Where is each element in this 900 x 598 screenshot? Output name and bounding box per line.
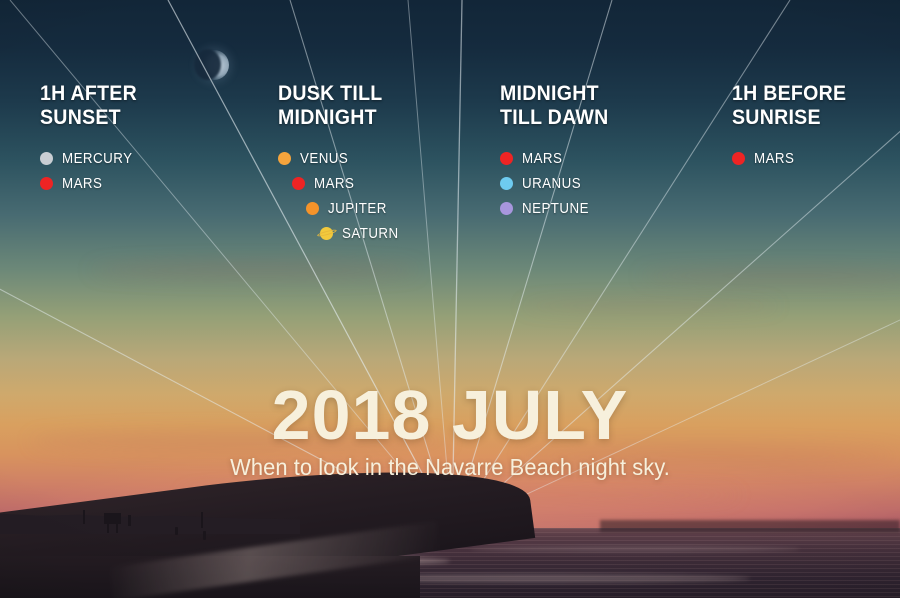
page-subtitle: When to look in the Navarre Beach night …: [23, 454, 878, 481]
planet-label: SATURN: [342, 226, 399, 242]
column-heading: 1H AFTER SUNSET: [40, 82, 137, 130]
planet-label: VENUS: [300, 151, 348, 167]
planet-list-item: MARS: [292, 171, 404, 196]
planet-list-item: MERCURY: [40, 146, 144, 171]
planet-list-item: SATURN: [320, 221, 404, 246]
time-column-1h-before-sunrise: 1H BEFORE SUNRISEMARS: [732, 82, 855, 187]
column-heading: 1H BEFORE SUNRISE: [732, 82, 846, 130]
night-sky-infographic: 1H AFTER SUNSETMERCURYMARSDUSK TILL MIDN…: [0, 0, 900, 598]
neptune-planet-icon: [500, 202, 513, 215]
planet-list-item: MARS: [500, 146, 617, 171]
planet-list-item: MARS: [40, 171, 144, 196]
mars-planet-icon: [500, 152, 513, 165]
planet-label: URANUS: [522, 176, 581, 192]
planet-list: MARS: [732, 146, 855, 171]
time-column-1h-after-sunset: 1H AFTER SUNSETMERCURYMARS: [40, 82, 144, 212]
planet-list: VENUSMARSJUPITERSATURN: [278, 146, 404, 246]
time-column-dusk-till-midnight: DUSK TILL MIDNIGHTVENUSMARSJUPITERSATURN: [278, 82, 404, 262]
planet-label: JUPITER: [328, 201, 387, 217]
viewing-time-columns: 1H AFTER SUNSETMERCURYMARSDUSK TILL MIDN…: [0, 0, 900, 598]
planet-label: MERCURY: [62, 151, 132, 167]
mercury-planet-icon: [40, 152, 53, 165]
planet-list: MERCURYMARS: [40, 146, 144, 196]
planet-list-item: MARS: [732, 146, 855, 171]
title-block: 2018 JULY When to look in the Navarre Be…: [0, 382, 900, 481]
saturn-planet-icon: [320, 227, 333, 240]
venus-planet-icon: [278, 152, 291, 165]
column-heading: MIDNIGHT TILL DAWN: [500, 82, 608, 130]
mars-planet-icon: [732, 152, 745, 165]
uranus-planet-icon: [500, 177, 513, 190]
planet-label: NEPTUNE: [522, 201, 589, 217]
planet-list-item: NEPTUNE: [500, 196, 617, 221]
planet-label: MARS: [314, 176, 354, 192]
planet-list-item: VENUS: [278, 146, 404, 171]
planet-label: MARS: [522, 151, 562, 167]
planet-label: MARS: [754, 151, 794, 167]
column-heading: DUSK TILL MIDNIGHT: [278, 82, 395, 130]
page-title: 2018 JULY: [0, 382, 900, 448]
planet-list: MARSURANUSNEPTUNE: [500, 146, 617, 221]
time-column-midnight-till-dawn: MIDNIGHT TILL DAWNMARSURANUSNEPTUNE: [500, 82, 617, 237]
jupiter-planet-icon: [306, 202, 319, 215]
planet-list-item: JUPITER: [306, 196, 404, 221]
planet-label: MARS: [62, 176, 102, 192]
planet-list-item: URANUS: [500, 171, 617, 196]
mars-planet-icon: [292, 177, 305, 190]
mars-planet-icon: [40, 177, 53, 190]
